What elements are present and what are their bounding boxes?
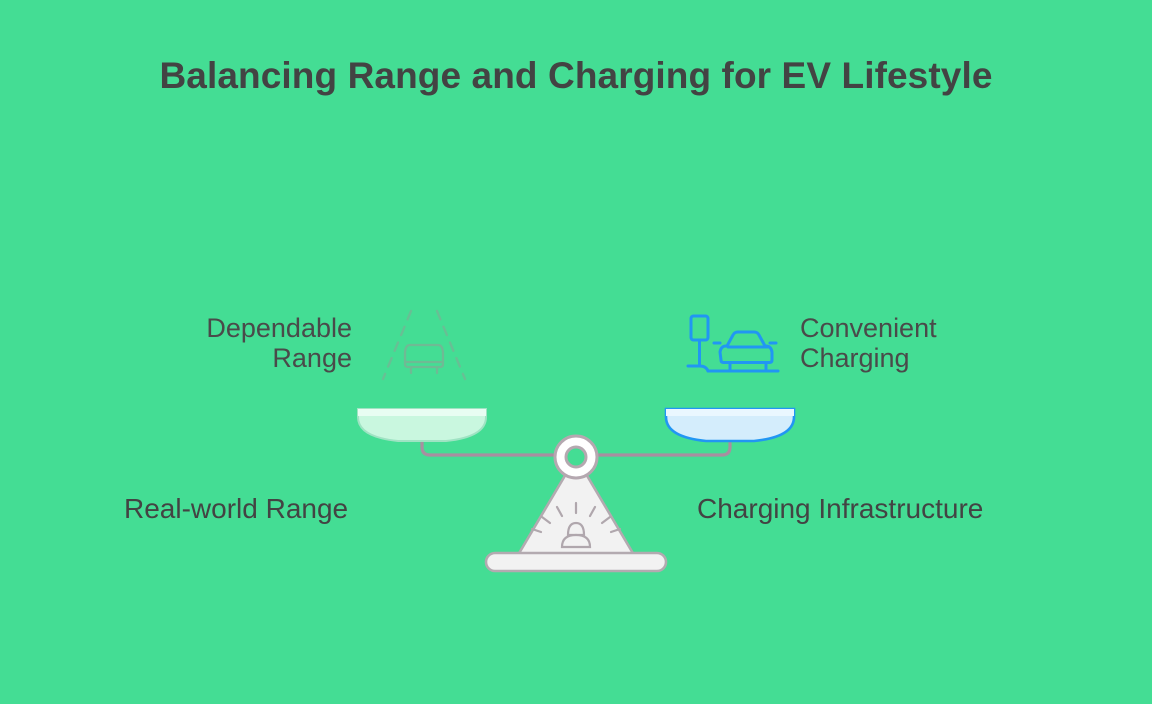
slide-canvas: Balancing Range and Charging for EV Life… [0, 0, 1152, 704]
left-side-label: Dependable Range [60, 313, 352, 373]
pivot-ring [555, 436, 597, 478]
left-pan [358, 409, 486, 441]
right-bottom-label: Charging Infrastructure [697, 493, 983, 525]
road-car-icon [372, 305, 476, 390]
ev-charging-station-icon [684, 310, 780, 387]
balance-scale-svg [336, 395, 816, 585]
left-bottom-label: Real-world Range [124, 493, 348, 525]
right-side-label: Convenient Charging [800, 313, 1100, 373]
road-car-icon-glyph [372, 305, 476, 385]
ev-charging-station-icon-glyph [684, 310, 780, 382]
page-title: Balancing Range and Charging for EV Life… [0, 55, 1152, 97]
right-pan [666, 409, 794, 441]
